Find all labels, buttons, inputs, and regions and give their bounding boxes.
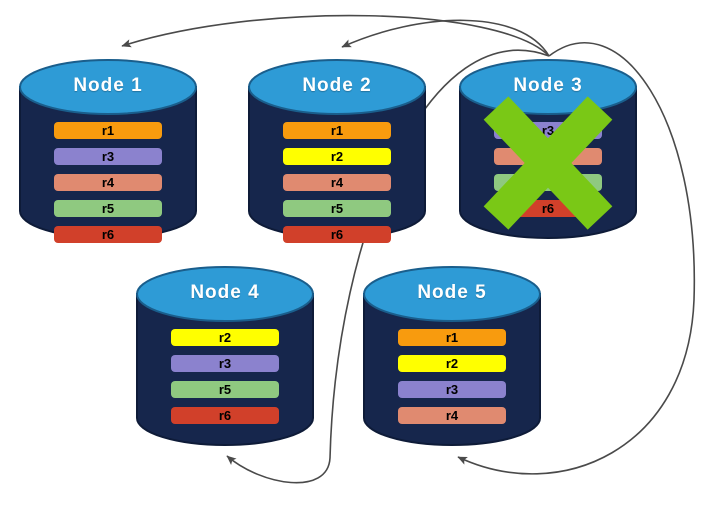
database-node-4[interactable]: Node 4r2r3r5r6: [135, 265, 315, 447]
cylinder-top-disc: [20, 60, 196, 114]
database-node-3[interactable]: Node 3r3r4r5r6: [458, 58, 638, 240]
replica-list: r3r4r5r6: [458, 122, 638, 226]
cylinder-top-disc: [364, 267, 540, 321]
replica-list: r2r3r5r6: [135, 329, 315, 433]
replica-bar[interactable]: r1: [283, 122, 391, 139]
replica-bar[interactable]: r3: [398, 381, 506, 398]
replica-bar[interactable]: r1: [54, 122, 162, 139]
replica-bar[interactable]: r3: [494, 122, 602, 139]
replica-bar[interactable]: r1: [398, 329, 506, 346]
replica-bar[interactable]: r5: [494, 174, 602, 191]
database-node-5[interactable]: Node 5r1r2r3r4: [362, 265, 542, 447]
cylinder-top-disc: [249, 60, 425, 114]
replica-bar[interactable]: r5: [283, 200, 391, 217]
replica-list: r1r3r4r5r6: [18, 122, 198, 252]
replica-bar[interactable]: r6: [54, 226, 162, 243]
diagram-canvas: Node 1r1r3r4r5r6Node 2r1r2r4r5r6Node 3r3…: [0, 0, 708, 508]
replica-bar[interactable]: r6: [494, 200, 602, 217]
replica-bar[interactable]: r2: [398, 355, 506, 372]
replica-bar[interactable]: r6: [283, 226, 391, 243]
replica-bar[interactable]: r4: [398, 407, 506, 424]
database-node-2[interactable]: Node 2r1r2r4r5r6: [247, 58, 427, 240]
database-node-1[interactable]: Node 1r1r3r4r5r6: [18, 58, 198, 240]
replica-list: r1r2r4r5r6: [247, 122, 427, 252]
replica-list: r1r2r3r4: [362, 329, 542, 433]
replica-bar[interactable]: r5: [54, 200, 162, 217]
edge-node-3-to-node-1: [122, 16, 549, 56]
replica-bar[interactable]: r4: [283, 174, 391, 191]
edge-node-3-to-node-2: [342, 20, 549, 56]
replica-bar[interactable]: r3: [54, 148, 162, 165]
cylinder-top-disc: [460, 60, 636, 114]
replica-bar[interactable]: r6: [171, 407, 279, 424]
replica-bar[interactable]: r5: [171, 381, 279, 398]
replica-bar[interactable]: r4: [494, 148, 602, 165]
replica-bar[interactable]: r4: [54, 174, 162, 191]
replica-bar[interactable]: r3: [171, 355, 279, 372]
replica-bar[interactable]: r2: [171, 329, 279, 346]
cylinder-top-disc: [137, 267, 313, 321]
replica-bar[interactable]: r2: [283, 148, 391, 165]
